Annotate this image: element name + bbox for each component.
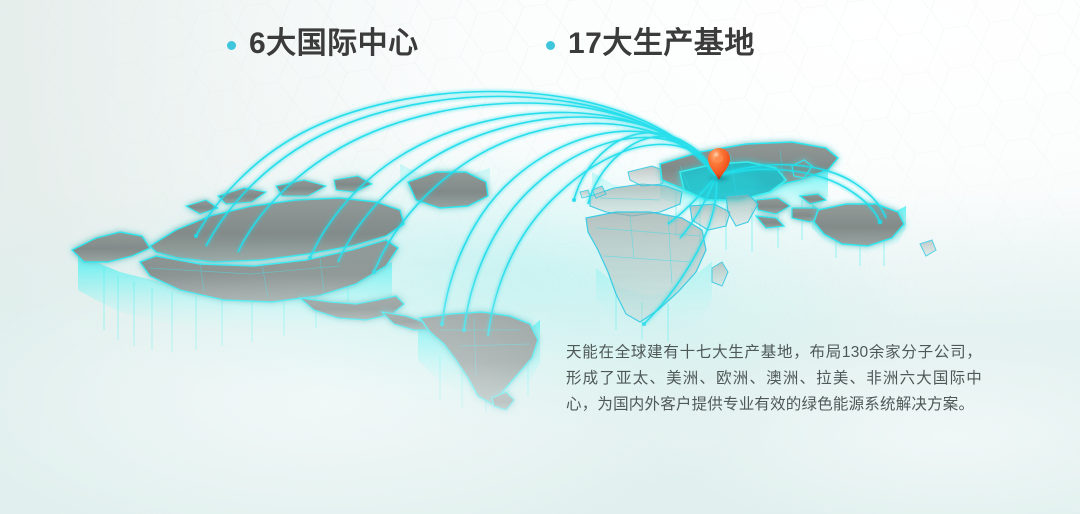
heading-production-bases: 17大生产基地 xyxy=(546,29,755,59)
headings-group: 6大国际中心 17大生产基地 xyxy=(0,0,1080,96)
pin-shadow xyxy=(702,174,736,183)
description-paragraph: 天能在全球建有十七大生产基地，布局130余家分子公司，形成了亚太、美洲、欧洲、澳… xyxy=(566,340,982,418)
infographic-canvas: 6大国际中心 17大生产基地 天能在全球建有十七大生产基地，布局130余家分子公… xyxy=(0,0,1080,514)
heading-label: 17大生产基地 xyxy=(568,29,755,59)
heading-label: 6大国际中心 xyxy=(249,29,419,59)
heading-international-centers: 6大国际中心 xyxy=(227,29,419,59)
location-pin-china[interactable] xyxy=(706,147,732,187)
bullet-dot-icon xyxy=(546,41,555,50)
bullet-dot-icon xyxy=(227,41,236,50)
